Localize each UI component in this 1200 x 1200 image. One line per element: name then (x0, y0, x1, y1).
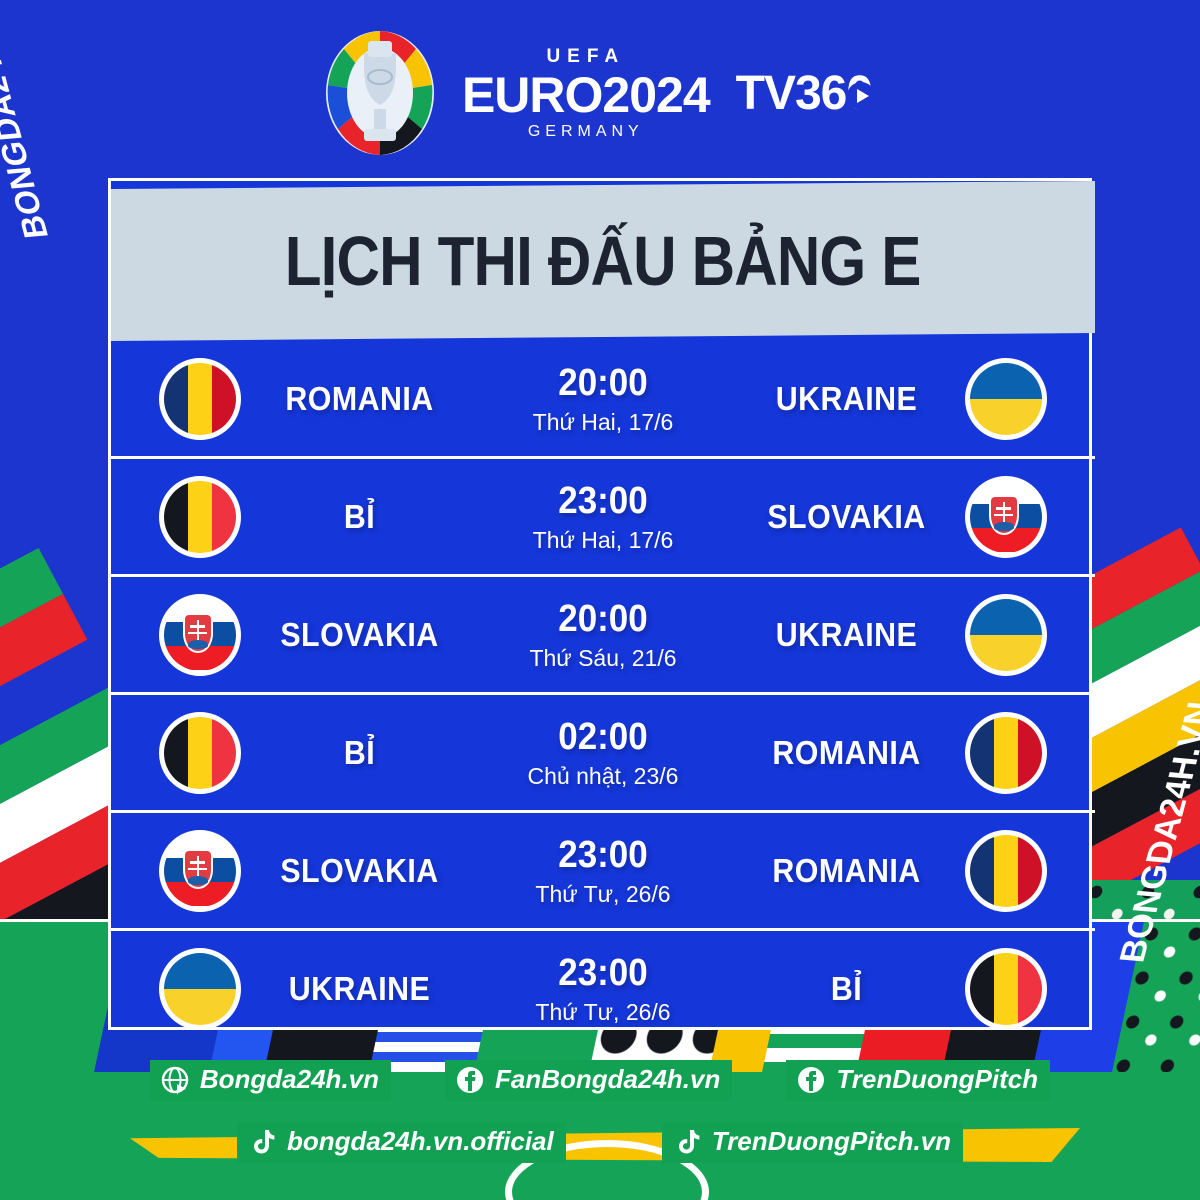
romania-flag-icon (965, 712, 1047, 794)
euro-wordmark: UEFA EURO2024 GERMANY (462, 47, 710, 140)
poster-header: UEFA EURO2024 GERMANY TV360 (0, 28, 1200, 158)
match-row[interactable]: BỈ 02:00 Chủ nhật, 23/6 ROMANIA (111, 695, 1095, 813)
match-time: 20:00 (488, 598, 718, 641)
social-label: TrenDuongPitch.vn (712, 1126, 951, 1157)
away-team-name: ROMANIA (737, 852, 955, 890)
match-row[interactable]: SLOVAKIA 20:00 Thứ Sáu, 21/6 UKRAINE (111, 577, 1095, 695)
social-link-facebook-fan[interactable]: FanBongda24h.vn (445, 1060, 732, 1101)
home-team-name: BỈ (250, 734, 468, 772)
home-team-name: UKRAINE (250, 970, 468, 1008)
germany-label: GERMANY (462, 124, 710, 140)
match-info: 20:00 Thứ Hai, 17/6 (478, 362, 728, 436)
tiktok-icon (247, 1127, 277, 1157)
belgium-flag-icon (159, 476, 241, 558)
tv360-logo: TV360 (736, 66, 876, 121)
ukraine-flag-icon (965, 594, 1047, 676)
social-link-website[interactable]: Bongda24h.vn (150, 1060, 391, 1101)
social-label: bongda24h.vn.official (287, 1126, 554, 1157)
match-date: Thứ Hai, 17/6 (478, 527, 728, 554)
social-label: TrenDuongPitch (836, 1064, 1038, 1095)
away-team-name: UKRAINE (737, 380, 955, 418)
social-link-tiktok-pitch[interactable]: TrenDuongPitch.vn (662, 1122, 963, 1163)
match-row[interactable]: BỈ 23:00 Thứ Hai, 17/6 SLOVAKIA (111, 459, 1095, 577)
match-info: 20:00 Thứ Sáu, 21/6 (478, 598, 728, 672)
away-team-name: ROMANIA (737, 734, 955, 772)
match-time: 23:00 (488, 480, 718, 523)
away-team-name: BỈ (737, 970, 955, 1008)
match-date: Thứ Hai, 17/6 (478, 409, 728, 436)
match-time: 23:00 (488, 952, 718, 995)
match-date: Thứ Tư, 26/6 (478, 999, 728, 1026)
match-row[interactable]: ROMANIA 20:00 Thứ Hai, 17/6 UKRAINE (111, 341, 1095, 459)
match-time: 02:00 (488, 716, 718, 759)
match-info: 23:00 Thứ Hai, 17/6 (478, 480, 728, 554)
social-links-row-2: bongda24h.vn.official TrenDuongPitch.vn (0, 1122, 1200, 1163)
match-row[interactable]: UKRAINE 23:00 Thứ Tư, 26/6 BỈ (111, 931, 1095, 1046)
ukraine-flag-icon (159, 948, 241, 1030)
ukraine-flag-icon (965, 358, 1047, 440)
title-banner: LỊCH THI ĐẤU BẢNG E (111, 181, 1095, 341)
facebook-icon (796, 1065, 826, 1095)
play-icon (846, 81, 876, 111)
match-date: Thứ Tư, 26/6 (478, 881, 728, 908)
home-team-name: BỈ (250, 498, 468, 536)
match-date: Thứ Sáu, 21/6 (478, 645, 728, 672)
match-list: ROMANIA 20:00 Thứ Hai, 17/6 UKRAINE BỈ (111, 341, 1095, 1046)
social-label: FanBongda24h.vn (495, 1064, 720, 1095)
away-team-name: SLOVAKIA (737, 498, 955, 536)
facebook-icon (455, 1065, 485, 1095)
social-link-tiktok-bongda[interactable]: bongda24h.vn.official (237, 1122, 566, 1163)
belgium-flag-icon (159, 712, 241, 794)
slovakia-flag-icon (159, 594, 241, 676)
euro-label: EURO2024 (462, 70, 710, 120)
romania-flag-icon (965, 830, 1047, 912)
globe-icon (160, 1065, 190, 1095)
match-info: 23:00 Thứ Tư, 26/6 (478, 834, 728, 908)
uefa-label: UEFA (462, 47, 710, 66)
slovakia-flag-icon (965, 476, 1047, 558)
match-date: Chủ nhật, 23/6 (478, 763, 728, 790)
home-team-name: ROMANIA (250, 380, 468, 418)
belgium-flag-icon (965, 948, 1047, 1030)
social-links-row-1: Bongda24h.vn FanBongda24h.vn TrenDuongPi… (0, 1060, 1200, 1101)
social-label: Bongda24h.vn (200, 1064, 379, 1095)
away-team-name: UKRAINE (737, 616, 955, 654)
match-time: 23:00 (488, 834, 718, 877)
tiktok-icon (672, 1127, 702, 1157)
home-team-name: SLOVAKIA (250, 852, 468, 890)
match-info: 02:00 Chủ nhật, 23/6 (478, 716, 728, 790)
poster-canvas: BONGDA24H.VN BONGDA24H.VN BONGDA24H.VN (0, 0, 1200, 1200)
schedule-panel: LỊCH THI ĐẤU BẢNG E ROMANIA 20:00 Thứ Ha… (108, 178, 1092, 1030)
match-row[interactable]: SLOVAKIA 23:00 Thứ Tư, 26/6 ROMANIA (111, 813, 1095, 931)
romania-flag-icon (159, 358, 241, 440)
social-link-facebook-pitch[interactable]: TrenDuongPitch (786, 1060, 1050, 1101)
page-title: LỊCH THI ĐẤU BẢNG E (285, 221, 921, 301)
slovakia-flag-icon (159, 830, 241, 912)
match-time: 20:00 (488, 362, 718, 405)
euro-trophy-icon (324, 29, 436, 157)
home-team-name: SLOVAKIA (250, 616, 468, 654)
match-info: 23:00 Thứ Tư, 26/6 (478, 952, 728, 1026)
